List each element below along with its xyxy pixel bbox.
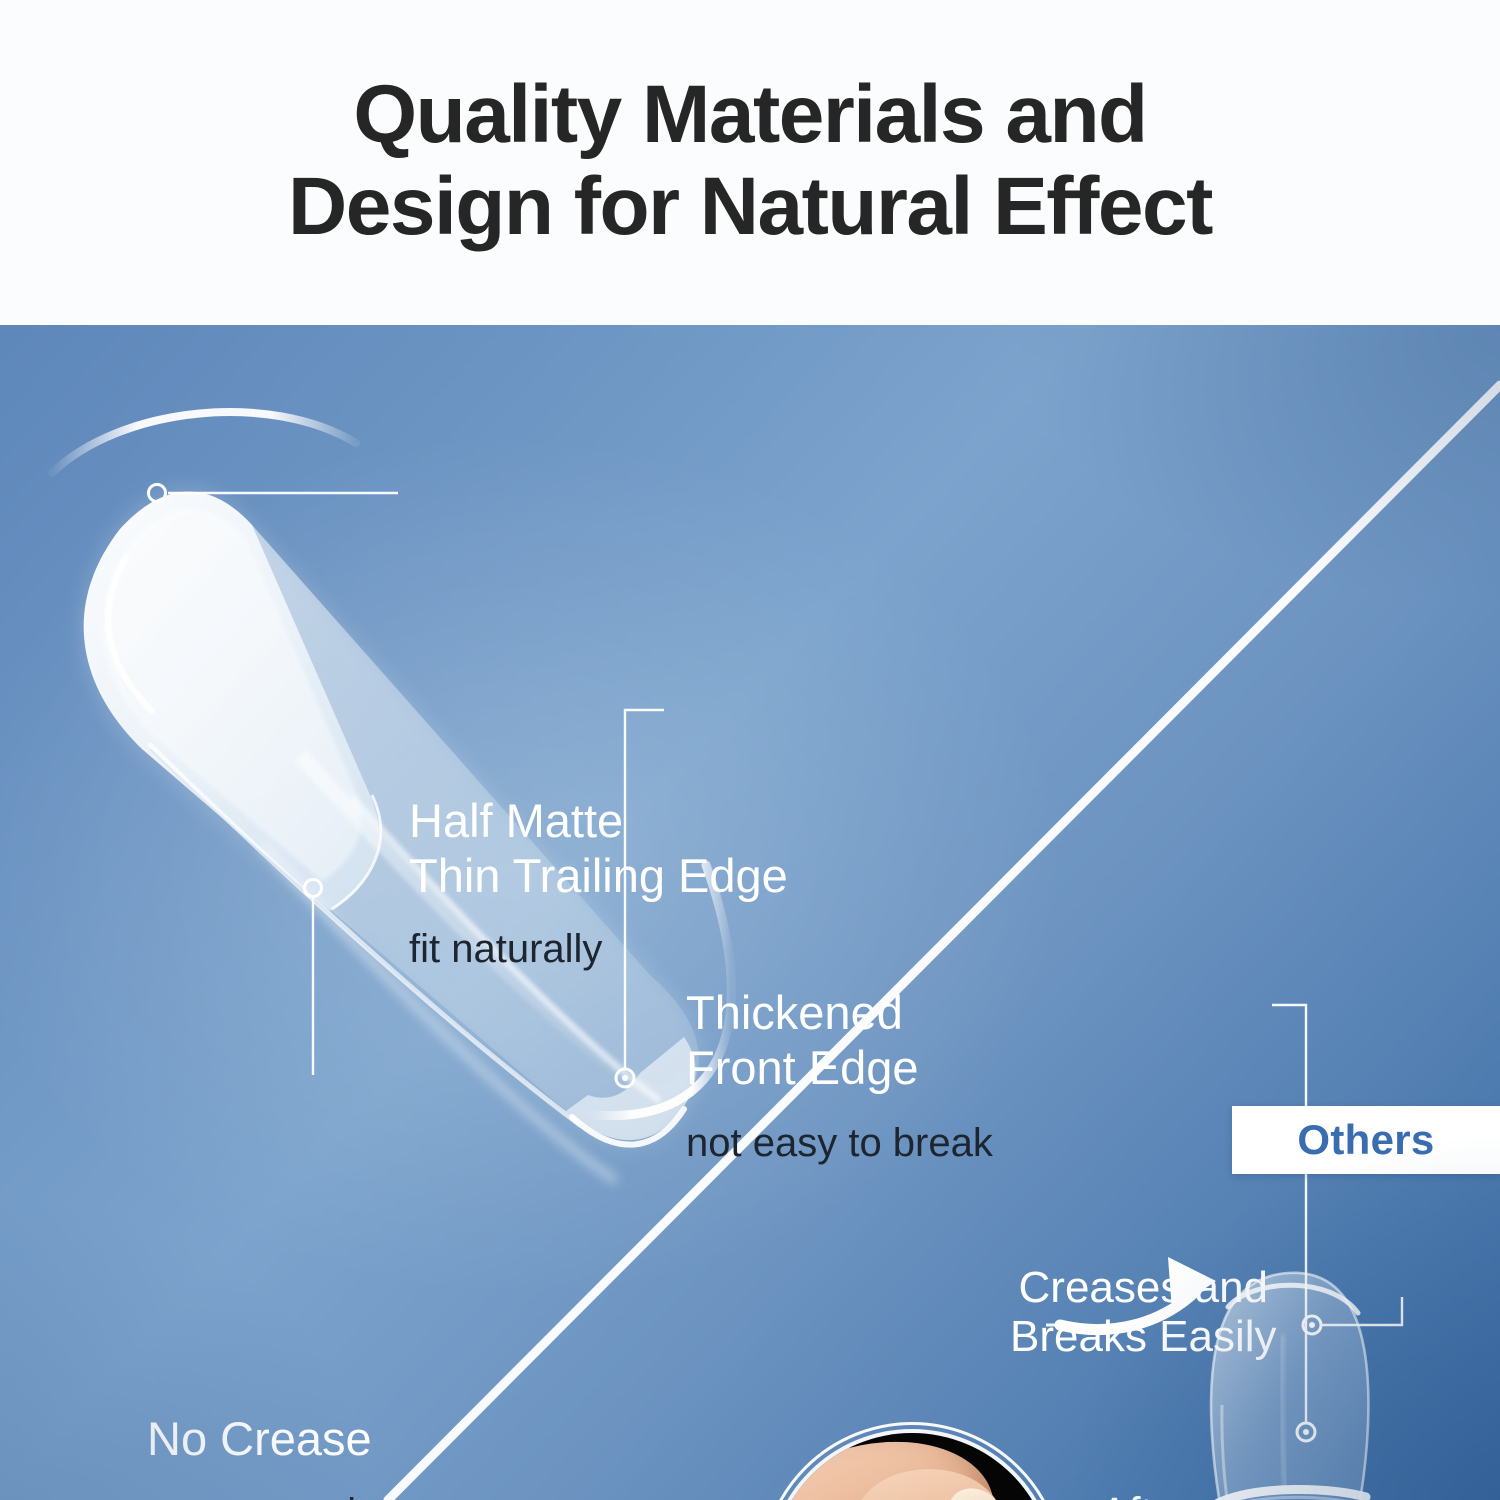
page-title-line-2: Design for Natural Effect bbox=[288, 161, 1212, 253]
callout-thickened-title-2: Front Edge bbox=[686, 1041, 993, 1096]
page-title: Quality Materials and Design for Natural… bbox=[228, 69, 1272, 253]
callout-half-matte-title-2: Thin Trailing Edge bbox=[409, 849, 788, 904]
callout-creases-title-1: Creases and bbox=[1010, 1263, 1277, 1312]
callout-half-matte-title-1: Half Matte bbox=[409, 794, 788, 849]
brand-badge-others: Others bbox=[1232, 1106, 1500, 1174]
page-title-line-1: Quality Materials and bbox=[288, 69, 1212, 161]
callout-creases-breaks: Creases and Breaks Easily bbox=[1010, 1263, 1277, 1362]
callout-thickened-front-edge: Thickened Front Edge not easy to break bbox=[686, 986, 993, 1167]
callout-after-bend: After Bend bbox=[1100, 1488, 1200, 1500]
callout-thickened-title-1: Thickened bbox=[686, 986, 993, 1041]
callout-half-matte-subtitle: fit naturally bbox=[409, 925, 788, 973]
callout-no-crease: No Crease strong toughness bbox=[147, 1412, 454, 1500]
callout-no-crease-subtitle: strong toughness bbox=[147, 1489, 454, 1500]
callout-no-crease-title: No Crease bbox=[147, 1412, 454, 1467]
callout-half-matte: Half Matte Thin Trailing Edge fit natura… bbox=[409, 794, 788, 973]
infographic-page: Quality Materials and Design for Natural… bbox=[0, 0, 1500, 1500]
comparison-panel: Half Matte Thin Trailing Edge fit natura… bbox=[0, 325, 1500, 1500]
callout-thickened-subtitle: not easy to break bbox=[686, 1119, 993, 1167]
brand-badge-others-label: Others bbox=[1297, 1116, 1434, 1164]
swoosh-arc-top bbox=[52, 412, 356, 473]
header-banner: Quality Materials and Design for Natural… bbox=[0, 0, 1500, 325]
callout-creases-title-2: Breaks Easily bbox=[1010, 1312, 1277, 1361]
callout-after-bend-title-1: After bbox=[1100, 1488, 1200, 1500]
